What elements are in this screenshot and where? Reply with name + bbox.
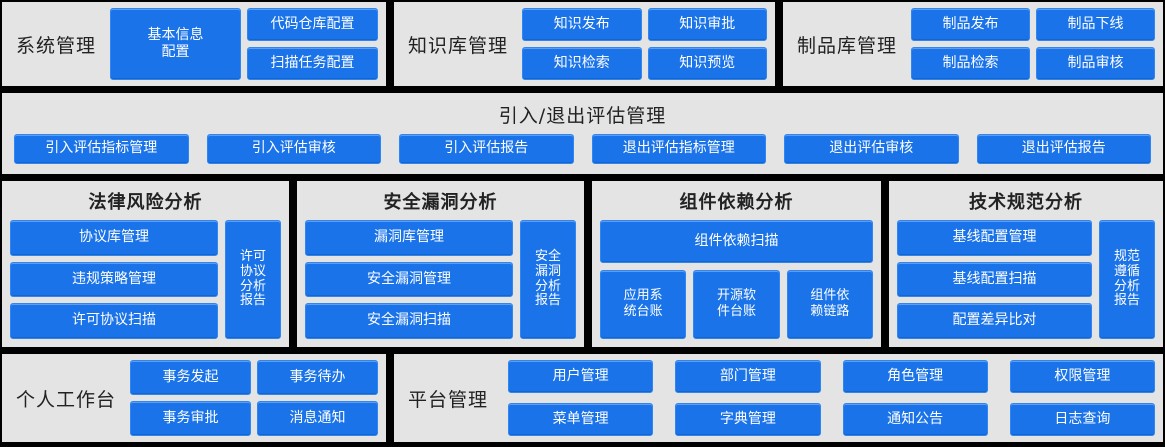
button-security-vuln-scan[interactable]: 安全漏洞扫描 (305, 303, 513, 339)
panel-intro-exit-evaluation: 引入/退出评估管理 引入评估指标管理 引入评估审核 引入评估报告 退出评估指标管… (0, 91, 1165, 176)
button-exit-eval-indicator-mgmt[interactable]: 退出评估指标管理 (592, 134, 767, 164)
analysis-body-security-vuln: 漏洞库管理 安全漏洞管理 安全漏洞扫描 安全 漏洞 分析 报告 (305, 220, 576, 339)
button-department-management[interactable]: 部门管理 (675, 360, 820, 393)
button-exit-eval-review[interactable]: 退出评估审核 (784, 134, 959, 164)
analysis-main-tech-spec: 基线配置管理 基线配置扫描 配置差异比对 (897, 220, 1092, 339)
button-baseline-config-scan[interactable]: 基线配置扫描 (897, 262, 1092, 298)
button-license-analysis-report[interactable]: 许可 协议 分析 报告 (225, 220, 281, 339)
panel-knowledge-base-management: 知识库管理 知识发布 知识审批 知识检索 知识预览 (392, 0, 777, 88)
button-security-vuln-analysis-report[interactable]: 安全 漏洞 分析 报告 (520, 220, 576, 339)
panel-title-system-management: 系统管理 (10, 31, 102, 58)
panel-title-technical-specification-analysis: 技术规范分析 (897, 188, 1155, 214)
button-application-system-ledger[interactable]: 应用系 统台账 (600, 270, 686, 339)
button-grid-knowledge-base: 知识发布 知识审批 知识检索 知识预览 (522, 8, 767, 80)
panel-title-artifact-repo-management: 制品库管理 (791, 31, 903, 58)
button-message-notification[interactable]: 消息通知 (257, 401, 378, 436)
button-intro-eval-review[interactable]: 引入评估审核 (207, 134, 382, 164)
button-artifact-search[interactable]: 制品检索 (911, 47, 1030, 80)
row-bottom: 个人工作台 事务发起 事务待办 事务审批 消息通知 平台管理 用户管理 部门管理… (0, 352, 1165, 444)
button-user-management[interactable]: 用户管理 (508, 360, 653, 393)
analysis-main-legal-risk: 协议库管理 违规策略管理 许可协议扫描 (10, 220, 218, 339)
analysis-body-component-dependency: 组件依赖扫描 应用系 统台账 开源软 件台账 组件依 赖链路 (600, 220, 873, 339)
panel-component-dependency-analysis: 组件依赖分析 组件依赖扫描 应用系 统台账 开源软 件台账 组件依 赖链路 (590, 179, 883, 349)
button-intro-eval-indicator-mgmt[interactable]: 引入评估指标管理 (14, 134, 189, 164)
button-knowledge-search[interactable]: 知识检索 (522, 47, 641, 80)
button-intro-eval-report[interactable]: 引入评估报告 (399, 134, 574, 164)
button-scan-task-config[interactable]: 扫描任务配置 (247, 47, 378, 80)
button-grid-evaluation: 引入评估指标管理 引入评估审核 引入评估报告 退出评估指标管理 退出评估审核 退… (8, 134, 1157, 166)
panel-legal-risk-analysis: 法律风险分析 协议库管理 违规策略管理 许可协议扫描 许可 协议 分析 报告 (0, 179, 291, 349)
panel-artifact-repo-management: 制品库管理 制品发布 制品下线 制品检索 制品审核 (781, 0, 1165, 88)
button-code-repo-config[interactable]: 代码仓库配置 (247, 8, 378, 41)
button-exit-eval-report[interactable]: 退出评估报告 (977, 134, 1152, 164)
row-top: 系统管理 基本信息 配置 代码仓库配置 扫描任务配置 知识库管理 知识发布 知识… (0, 0, 1165, 88)
button-license-agreement-scan[interactable]: 许可协议扫描 (10, 303, 218, 339)
button-agreement-library-mgmt[interactable]: 协议库管理 (10, 220, 218, 256)
button-knowledge-preview[interactable]: 知识预览 (648, 47, 768, 80)
analysis-main-security-vuln: 漏洞库管理 安全漏洞管理 安全漏洞扫描 (305, 220, 513, 339)
analysis-body-legal-risk: 协议库管理 违规策略管理 许可协议扫描 许可 协议 分析 报告 (10, 220, 281, 339)
panel-platform-management: 平台管理 用户管理 部门管理 角色管理 权限管理 菜单管理 字典管理 通知公告 … (392, 352, 1165, 444)
button-task-initiate[interactable]: 事务发起 (130, 360, 251, 395)
button-task-todo[interactable]: 事务待办 (257, 360, 378, 395)
button-role-management[interactable]: 角色管理 (843, 360, 988, 393)
row-evaluation: 引入/退出评估管理 引入评估指标管理 引入评估审核 引入评估报告 退出评估指标管… (0, 91, 1165, 176)
button-knowledge-publish[interactable]: 知识发布 (522, 8, 641, 41)
button-grid-platform-management: 用户管理 部门管理 角色管理 权限管理 菜单管理 字典管理 通知公告 日志查询 (502, 360, 1155, 436)
button-component-dependency-chain[interactable]: 组件依 赖链路 (787, 270, 873, 339)
panel-title-personal-workbench: 个人工作台 (10, 385, 122, 412)
button-violation-policy-mgmt[interactable]: 违规策略管理 (10, 262, 218, 298)
button-knowledge-approval[interactable]: 知识审批 (648, 8, 768, 41)
button-baseline-config-mgmt[interactable]: 基线配置管理 (897, 220, 1092, 256)
panel-technical-specification-analysis: 技术规范分析 基线配置管理 基线配置扫描 配置差异比对 规范 遵循 分析 报告 (887, 179, 1165, 349)
button-dictionary-management[interactable]: 字典管理 (675, 403, 820, 436)
analysis-body-tech-spec: 基线配置管理 基线配置扫描 配置差异比对 规范 遵循 分析 报告 (897, 220, 1155, 339)
button-grid-artifact-repo: 制品发布 制品下线 制品检索 制品审核 (911, 8, 1155, 80)
button-open-source-software-ledger[interactable]: 开源软 件台账 (693, 270, 779, 339)
button-notice-announcement[interactable]: 通知公告 (843, 403, 988, 436)
button-permission-management[interactable]: 权限管理 (1010, 360, 1155, 393)
button-task-approval[interactable]: 事务审批 (130, 401, 251, 436)
panel-security-vulnerability-analysis: 安全漏洞分析 漏洞库管理 安全漏洞管理 安全漏洞扫描 安全 漏洞 分析 报告 (295, 179, 586, 349)
button-config-difference-compare[interactable]: 配置差异比对 (897, 303, 1092, 339)
button-menu-management[interactable]: 菜单管理 (508, 403, 653, 436)
panel-title-knowledge-base-management: 知识库管理 (402, 31, 514, 58)
panel-title-security-vulnerability-analysis: 安全漏洞分析 (305, 188, 576, 214)
architecture-board: 系统管理 基本信息 配置 代码仓库配置 扫描任务配置 知识库管理 知识发布 知识… (0, 0, 1165, 447)
button-component-dependency-scan[interactable]: 组件依赖扫描 (600, 220, 873, 263)
panel-personal-workbench: 个人工作台 事务发起 事务待办 事务审批 消息通知 (0, 352, 388, 444)
panel-system-management: 系统管理 基本信息 配置 代码仓库配置 扫描任务配置 (0, 0, 388, 88)
button-artifact-review[interactable]: 制品审核 (1036, 47, 1155, 80)
button-grid-personal-workbench: 事务发起 事务待办 事务审批 消息通知 (130, 360, 378, 436)
panel-title-component-dependency-analysis: 组件依赖分析 (600, 188, 873, 214)
button-grid-system-management: 基本信息 配置 代码仓库配置 扫描任务配置 (110, 8, 378, 80)
button-log-query[interactable]: 日志查询 (1010, 403, 1155, 436)
button-basic-info-config[interactable]: 基本信息 配置 (110, 8, 241, 80)
button-artifact-offline[interactable]: 制品下线 (1036, 8, 1155, 41)
button-security-vuln-mgmt[interactable]: 安全漏洞管理 (305, 262, 513, 298)
button-artifact-publish[interactable]: 制品发布 (911, 8, 1030, 41)
button-spec-compliance-analysis-report[interactable]: 规范 遵循 分析 报告 (1099, 220, 1155, 339)
panel-title-platform-management: 平台管理 (402, 385, 494, 412)
panel-title-intro-exit-evaluation: 引入/退出评估管理 (8, 101, 1157, 128)
button-vuln-library-mgmt[interactable]: 漏洞库管理 (305, 220, 513, 256)
row-analysis: 法律风险分析 协议库管理 违规策略管理 许可协议扫描 许可 协议 分析 报告 安… (0, 179, 1165, 349)
button-grid-component-ledgers: 应用系 统台账 开源软 件台账 组件依 赖链路 (600, 270, 873, 339)
panel-title-legal-risk-analysis: 法律风险分析 (10, 188, 281, 214)
